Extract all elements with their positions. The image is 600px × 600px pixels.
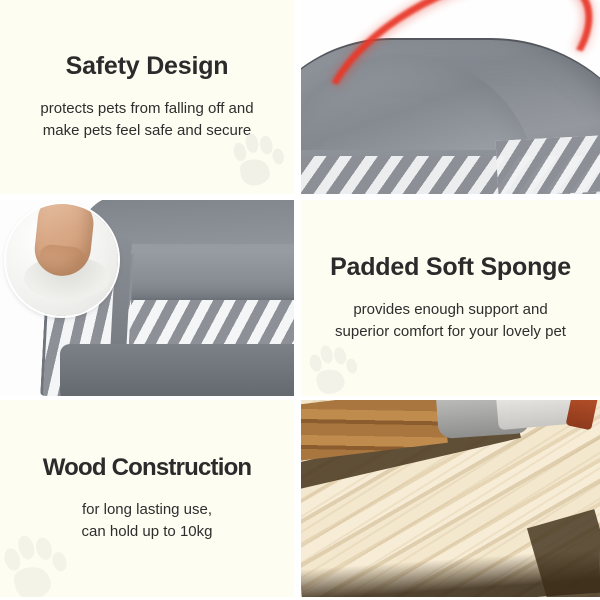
panel-safety-design: Safety Design protects pets from falling…	[0, 0, 294, 194]
panel-heading-wood-construction: Wood Construction	[43, 454, 252, 482]
panel-heading-safety-design: Safety Design	[66, 52, 229, 81]
panel-sofa-backrest-photo	[301, 0, 600, 194]
panel-wood-planks-photo	[301, 400, 600, 597]
chevron-fabric-side	[496, 135, 600, 194]
sofa-base	[60, 344, 294, 396]
photo-background	[301, 400, 600, 597]
panel-sofa-side-foam-photo	[0, 200, 294, 396]
infographic-grid: Safety Design protects pets from falling…	[0, 0, 600, 600]
paw-print-icon	[0, 531, 72, 597]
panel-body-line-2: superior comfort for your lovely pet	[335, 321, 566, 343]
panel-heading-padded-soft-sponge: Padded Soft Sponge	[330, 253, 571, 282]
panel-body-line-1: for long lasting use,	[82, 499, 212, 521]
panel-body-line-2: can hold up to 10kg	[82, 521, 213, 543]
panel-wood-construction: Wood Construction for long lasting use, …	[0, 400, 294, 597]
panel-body-line-2: make pets feel safe and secure	[43, 120, 251, 142]
sponge-closeup-inset	[6, 204, 118, 316]
paw-print-icon	[303, 342, 361, 396]
panel-padded-soft-sponge: Padded Soft Sponge provides enough suppo…	[301, 200, 600, 396]
panel-body-line-1: provides enough support and	[353, 299, 547, 321]
panel-body-line-1: protects pets from falling off and	[40, 98, 253, 120]
